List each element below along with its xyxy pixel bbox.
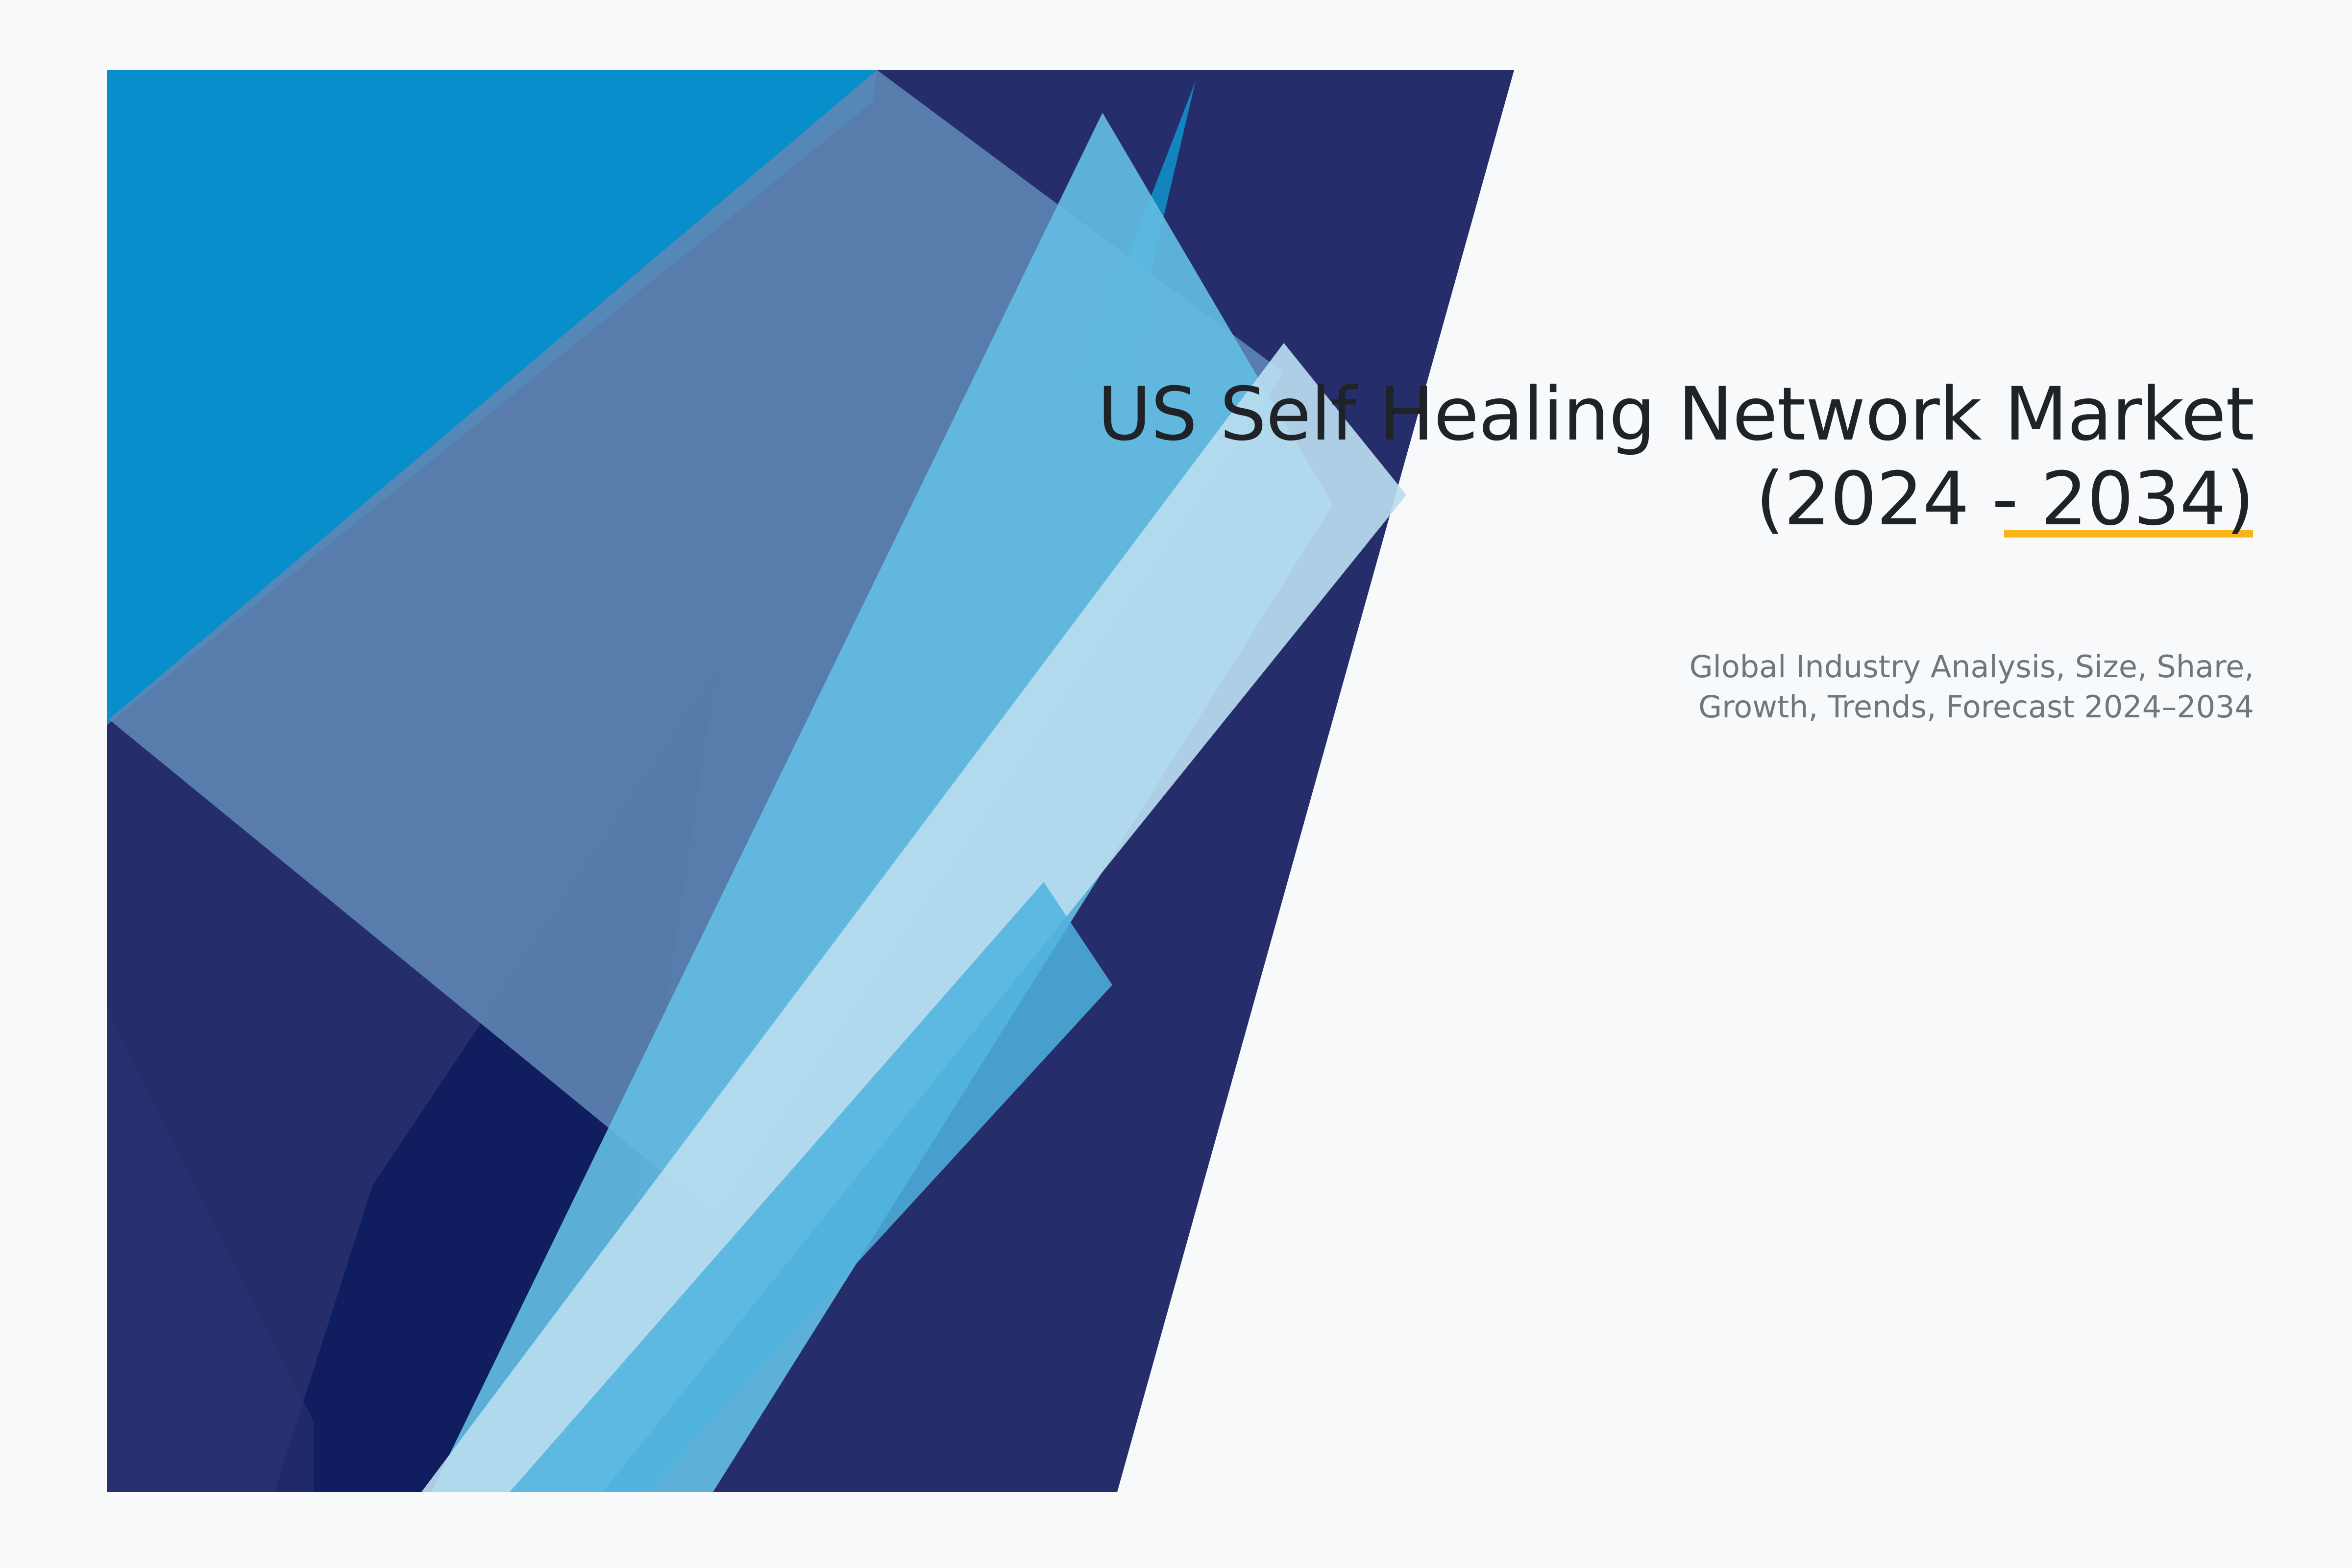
page-title: US Self Healing Network Market (2024 - 2…: [931, 372, 2254, 541]
cover-text-block: US Self Healing Network Market (2024 - 2…: [931, 372, 2254, 541]
page-subtitle: Global Industry Analysis, Size, Share, G…: [1274, 647, 2254, 727]
abstract-polygon-artwork: [0, 0, 2352, 1568]
slide-canvas: US Self Healing Network Market (2024 - 2…: [0, 0, 2352, 1568]
